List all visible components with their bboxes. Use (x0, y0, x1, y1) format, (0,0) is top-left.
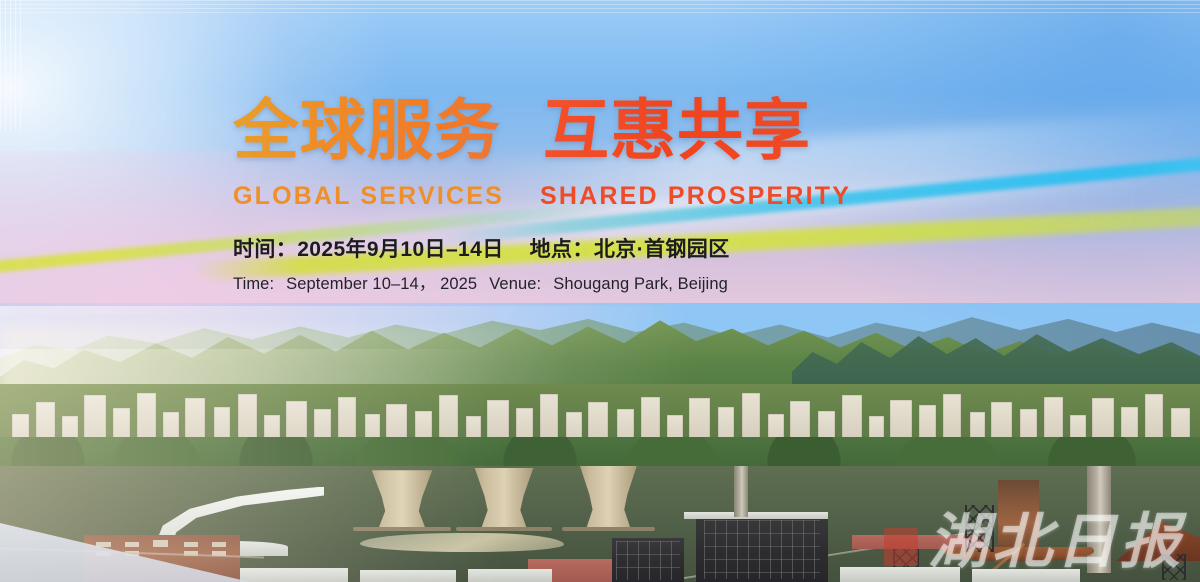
low-rise-row-a (240, 568, 348, 582)
furnace-support-lattice (965, 505, 994, 552)
headline-phrase-1: 全球服务 (233, 96, 501, 166)
time-value-en: September 10–14， 2025 (286, 275, 477, 293)
cooling-tower-left-base (353, 527, 451, 530)
blast-furnace-stack (998, 480, 1039, 552)
info-line-english: Time:September 10–14， 2025Venue:Shougang… (233, 270, 851, 294)
venue-label-cn: 地点： (530, 238, 594, 261)
low-rise-row-b (360, 570, 456, 582)
top-edge-scanlines (0, 0, 1200, 16)
venue-value-en: Shougang Park, Beijing (553, 275, 728, 293)
industrial-roof-white (684, 512, 828, 519)
banner-text-block: 全球服务 互惠共享 GLOBAL SERVICES SHARED PROSPER… (233, 96, 851, 294)
shougang-big-air-ski-jump (156, 487, 324, 543)
subheadline: GLOBAL SERVICES SHARED PROSPERITY (233, 182, 851, 211)
time-label-en: Time: (233, 275, 274, 293)
smokestack-tall-right (1087, 466, 1111, 573)
left-edge-scanlines (0, 0, 22, 130)
cooling-tower-center (463, 468, 545, 529)
qunming-lake (360, 533, 564, 552)
low-rise-row-c (468, 569, 552, 582)
low-rise-row-d (840, 567, 960, 582)
low-rise-row-e (972, 569, 1080, 582)
info-line-chinese: 时间：2025年9月10日–14日地点：北京·首钢园区 (233, 233, 851, 263)
cooling-tower-right-base (562, 527, 656, 530)
cooling-tower-center-base (456, 527, 552, 530)
crane-lattice-right (1162, 554, 1186, 580)
venue-value-cn: 北京·首钢园区 (594, 238, 730, 261)
event-banner: 全球服务 互惠共享 GLOBAL SERVICES SHARED PROSPER… (0, 0, 1200, 582)
venue-label-en: Venue: (489, 275, 541, 293)
industrial-block-main (696, 514, 828, 582)
headline-phrase-2: 互惠共享 (543, 96, 811, 166)
industrial-block-secondary (612, 538, 684, 582)
time-value-cn: 2025年9月10日–14日 (297, 238, 503, 261)
smokestack-center (734, 466, 747, 517)
subheadline-phrase-2: SHARED PROSPERITY (540, 182, 851, 211)
cooling-tower-right (569, 466, 648, 529)
cooling-tower-left (360, 470, 444, 528)
ore-stockpile (1116, 521, 1200, 561)
time-label-cn: 时间： (233, 238, 297, 261)
headline: 全球服务 互惠共享 (233, 96, 851, 166)
foreground-industrial-park (0, 466, 1200, 582)
subheadline-phrase-1: GLOBAL SERVICES (233, 182, 504, 211)
